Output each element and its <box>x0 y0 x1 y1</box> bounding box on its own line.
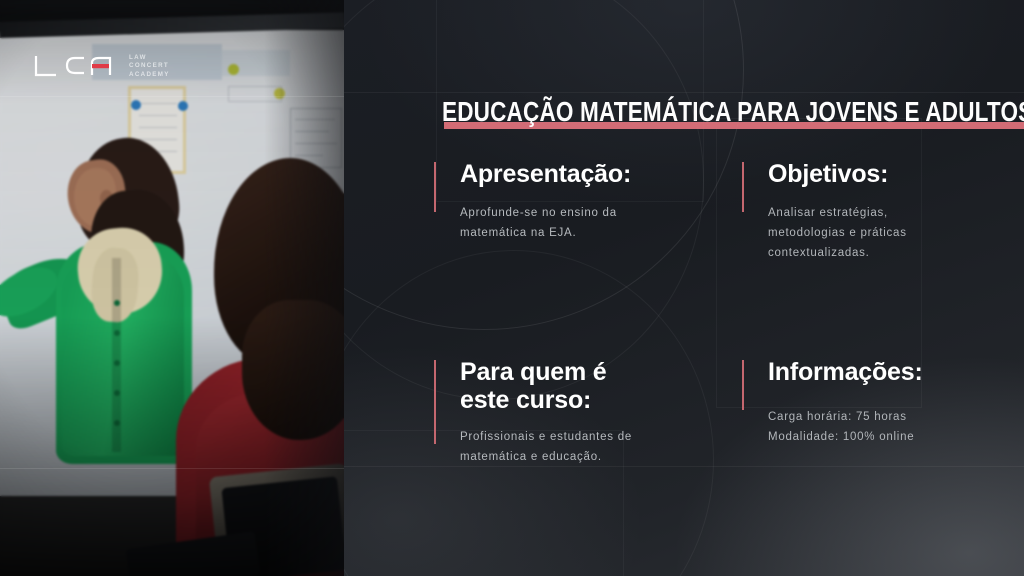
section-heading-line2: este curso: <box>460 386 714 414</box>
sections-grid: Apresentação: Aprofunde-se no ensino da … <box>344 0 1024 576</box>
body-line: contextualizadas. <box>768 244 1012 264</box>
section-heading: Apresentação: <box>460 160 714 188</box>
body-line: Aprofunde-se no ensino da <box>460 204 714 224</box>
section-header: Objetivos: <box>742 160 1012 188</box>
lca-logo: LAW CONCERT ACADEMY <box>34 52 170 80</box>
section-header: Apresentação: <box>434 160 714 188</box>
photo-right-fade <box>264 0 344 576</box>
body-line: Analisar estratégias, <box>768 204 1012 224</box>
accent-bar <box>434 360 436 444</box>
section-header: Para quem é este curso: <box>434 358 714 414</box>
section-apresentacao: Apresentação: Aprofunde-se no ensino da … <box>434 160 714 244</box>
body-line: Profissionais e estudantes de <box>460 428 714 448</box>
section-body: Profissionais e estudantes de matemática… <box>434 428 714 468</box>
lca-logo-words: LAW CONCERT ACADEMY <box>129 54 170 79</box>
body-line: matemática na EJA. <box>460 224 714 244</box>
logo-word-academy: ACADEMY <box>129 72 170 78</box>
body-line: Modalidade: 100% online <box>768 428 1012 448</box>
lca-logo-mark <box>34 52 120 80</box>
section-heading: Objetivos: <box>768 160 1012 188</box>
section-heading-line1: Para quem é <box>460 358 714 386</box>
section-informacoes: Informações: Carga horária: 75 horas Mod… <box>742 358 1012 448</box>
accent-bar <box>434 162 436 212</box>
body-line: Carga horária: 75 horas <box>768 408 1012 428</box>
section-objetivos: Objetivos: Analisar estratégias, metodol… <box>742 160 1012 263</box>
accent-bar <box>742 360 744 410</box>
section-header: Informações: <box>742 358 1012 386</box>
section-body: Analisar estratégias, metodologias e prá… <box>742 204 1012 263</box>
body-line: metodologias e práticas <box>768 224 1012 244</box>
slide-title: EDUCAÇÃO MATEMÁTICA PARA JOVENS E ADULTO… <box>442 96 1024 128</box>
presentation-slide: LAW CONCERT ACADEMY EDUCAÇÃO MATEMÁTICA … <box>0 0 1024 576</box>
content-panel: EDUCAÇÃO MATEMÁTICA PARA JOVENS E ADULTO… <box>344 0 1024 576</box>
section-body: Aprofunde-se no ensino da matemática na … <box>434 204 714 244</box>
accent-bar <box>742 162 744 212</box>
classroom-photo <box>0 0 344 576</box>
slide-title-wrap: EDUCAÇÃO MATEMÁTICA PARA JOVENS E ADULTO… <box>442 96 1024 128</box>
section-body: Carga horária: 75 horas Modalidade: 100%… <box>742 408 1012 448</box>
section-heading: Informações: <box>768 358 1012 386</box>
logo-word-law: LAW <box>129 55 170 61</box>
logo-word-concert: CONCERT <box>129 63 170 69</box>
section-para-quem: Para quem é este curso: Profissionais e … <box>434 358 714 468</box>
body-line: matemática e educação. <box>460 448 714 468</box>
